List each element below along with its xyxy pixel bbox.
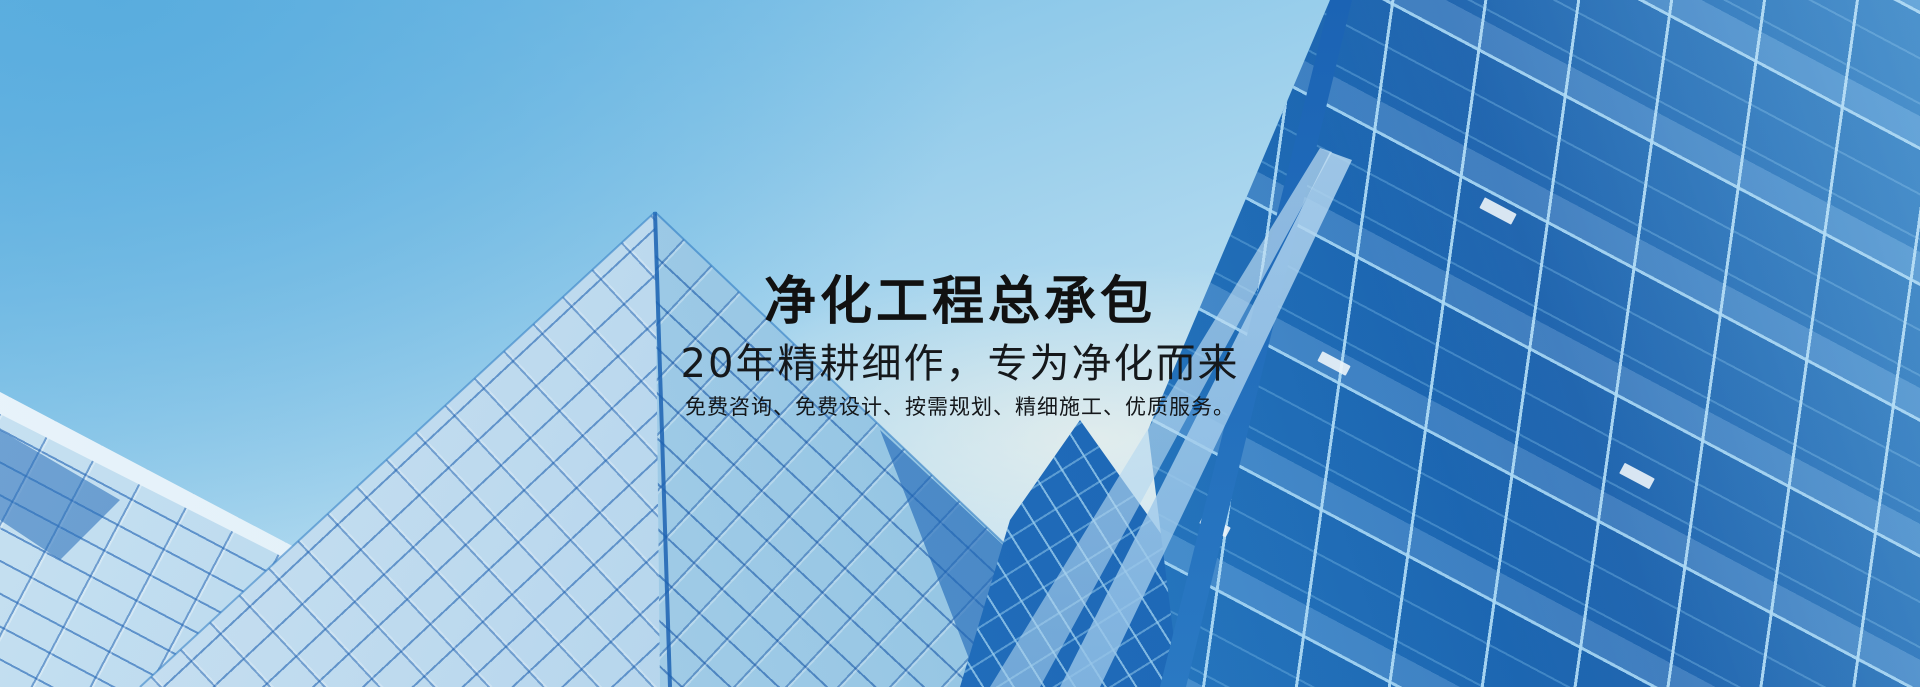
- hero-banner: 净化工程总承包 20年精耕细作，专为净化而来 免费咨询、免费设计、按需规划、精细…: [0, 0, 1920, 687]
